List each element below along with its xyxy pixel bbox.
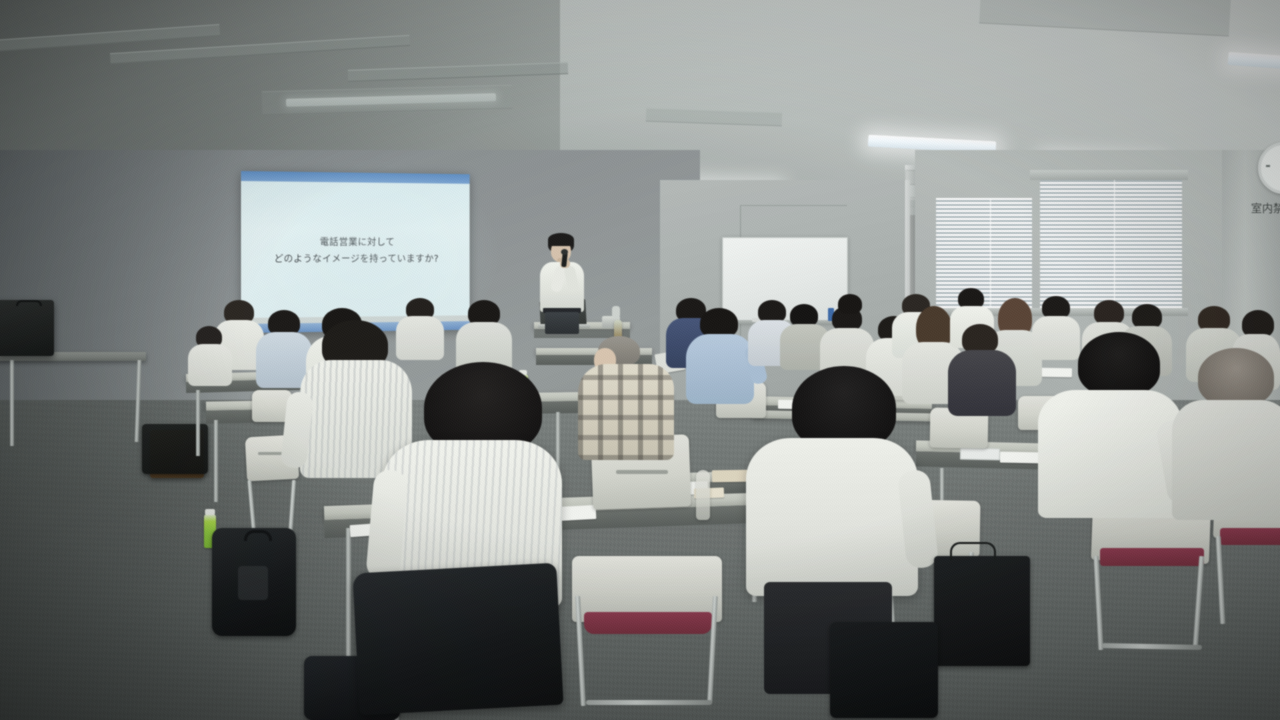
blind-slats [1040, 178, 1182, 310]
slide-text-line-2: どのようなイメージを持っていますか? [274, 251, 439, 265]
attendee-torso [948, 350, 1016, 416]
desk-leg [214, 420, 218, 502]
photo-scene: 室内禁 電話営業に対して どのようなイメージを持っていますか? [0, 0, 1280, 720]
attendee-torso [1032, 316, 1080, 360]
slide-content: 電話営業に対して どのようなイメージを持っていますか? [241, 181, 470, 318]
presenter-trousers [545, 312, 579, 334]
window-blinds [1040, 178, 1182, 310]
briefcase-handle [950, 542, 996, 560]
attendee-shirt [746, 438, 918, 596]
desk-paper [1040, 368, 1072, 378]
desk-paper [712, 470, 748, 483]
slide-text-line-1: 電話営業に対して [320, 234, 395, 248]
clock-tick [1266, 165, 1270, 167]
backpack-handle [244, 530, 272, 541]
chair-seat [1220, 528, 1280, 545]
attendee-hair [1198, 348, 1274, 406]
attendee-hair [838, 294, 862, 314]
chair-seat [1100, 548, 1204, 566]
draped-jacket [352, 563, 563, 715]
window-blinds [936, 198, 1032, 310]
desk-paper [1000, 452, 1042, 464]
blind-cord [1114, 178, 1115, 310]
attendee-plaid-shirt [578, 364, 674, 460]
chair-handle-slot [616, 470, 668, 474]
desk-item [612, 306, 620, 318]
chair-base-rail [586, 700, 712, 705]
equipment-case [0, 300, 54, 356]
chair-back [696, 470, 710, 520]
floor-bag [830, 622, 938, 718]
bottle-cap [205, 509, 215, 515]
backpack-pocket [238, 566, 268, 600]
chair-seat [584, 612, 712, 634]
window-header [1030, 170, 1188, 180]
table-leg [10, 360, 14, 446]
presenter-hair-top [548, 233, 574, 246]
projection-screen: 電話営業に対して どのようなイメージを持っていますか? [241, 171, 470, 333]
attendee-torso [188, 344, 232, 386]
desk-notebook [960, 448, 1000, 461]
case-handle [16, 300, 42, 306]
attendee-torso [396, 316, 444, 360]
blind-cord [990, 198, 991, 310]
desk-leg [196, 390, 200, 456]
attendee-torso [686, 334, 754, 404]
attendee-shirt [1172, 400, 1280, 520]
desk-leg [346, 528, 351, 660]
briefcase [934, 556, 1030, 666]
blind-slats [936, 198, 1032, 310]
wall-sign-label: 室内禁 [1251, 200, 1280, 216]
attendee-hair [1078, 332, 1160, 396]
microphone-head [561, 249, 568, 255]
